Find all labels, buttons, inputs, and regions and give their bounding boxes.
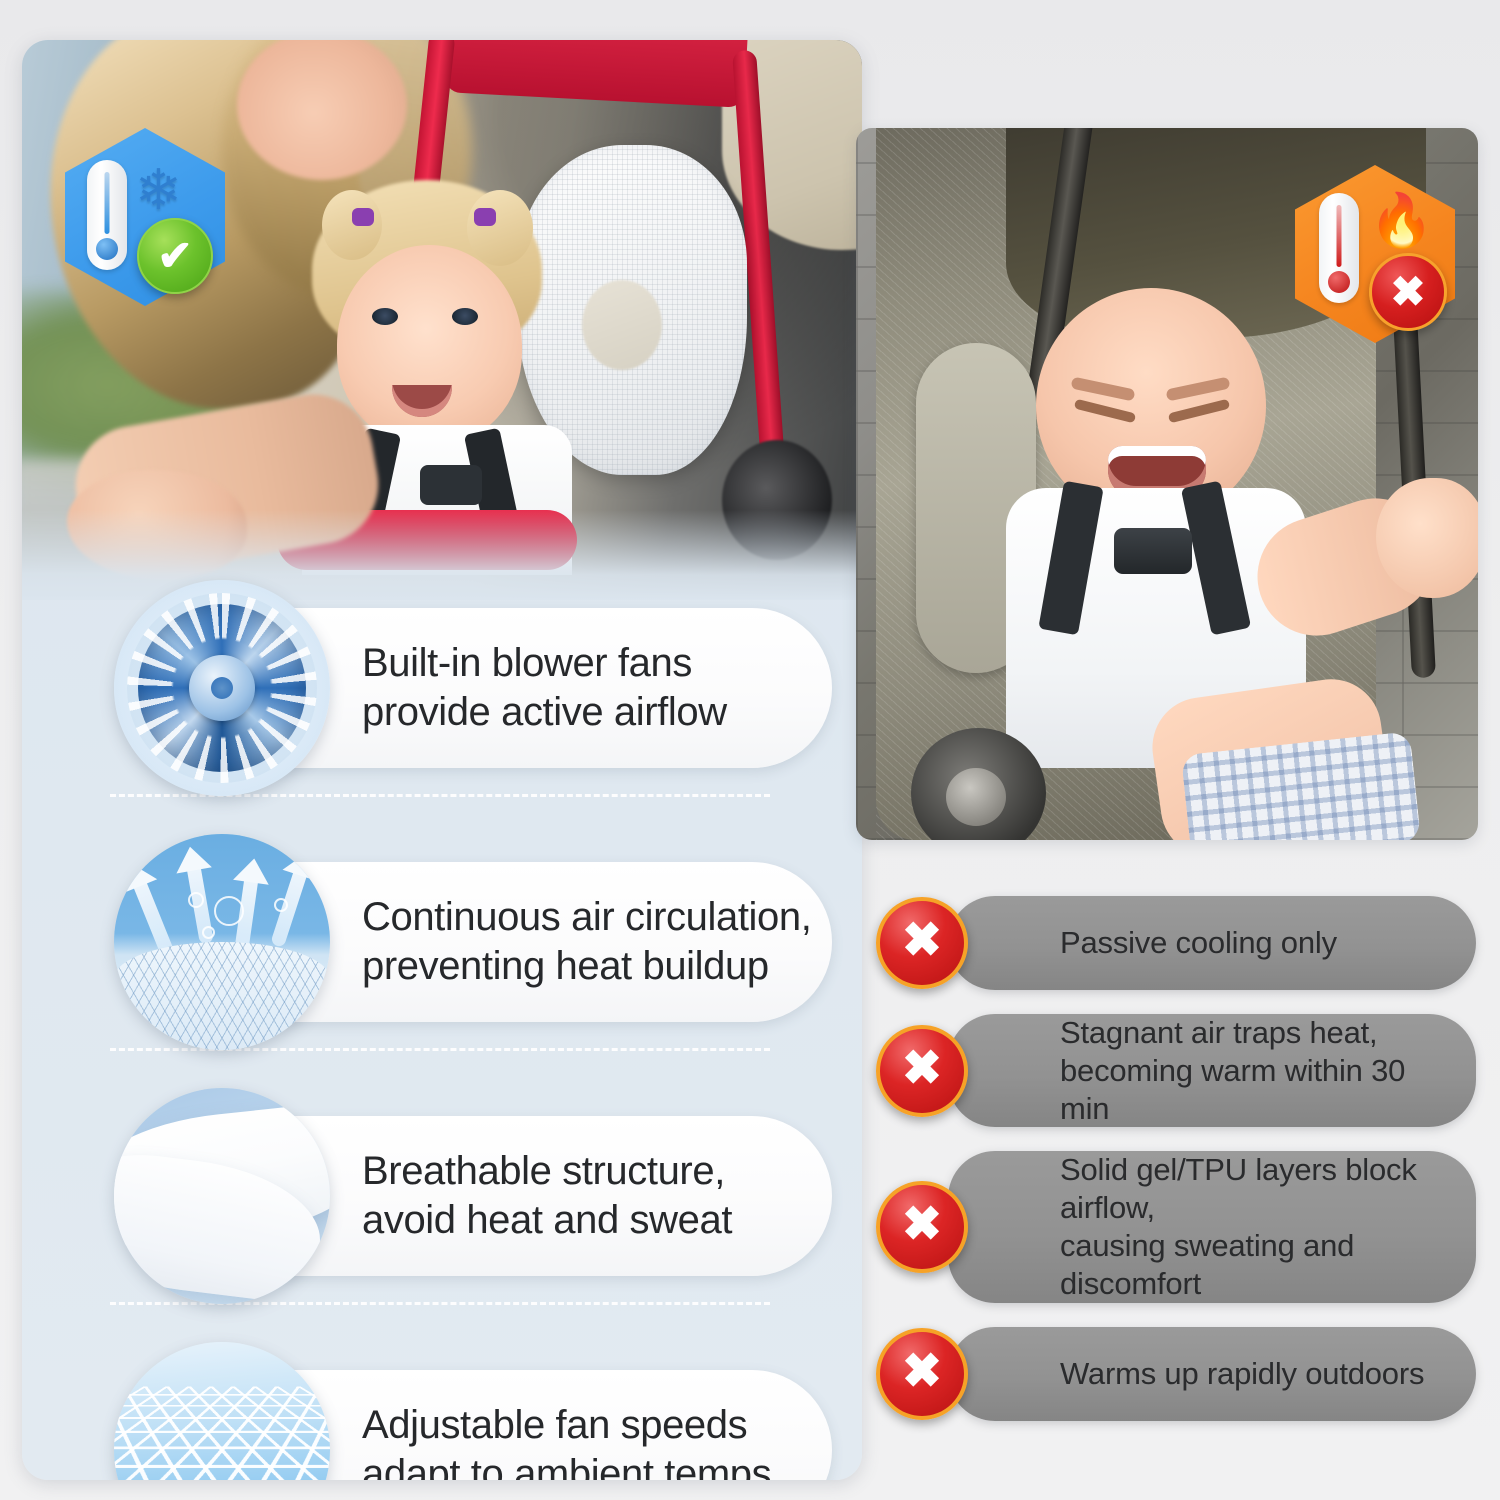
con-line-2: causing sweating and discomfort: [1060, 1228, 1354, 1301]
x-circle-icon: ✖: [876, 897, 968, 989]
stroller-wheel-hub: [946, 768, 1006, 826]
con-pill: Solid gel/TPU layers block airflow, caus…: [948, 1151, 1476, 1302]
con-row: Stagnant air traps heat, becoming warm w…: [876, 1014, 1476, 1127]
feature-line-2: preventing heat buildup: [362, 944, 769, 988]
baby-pigtail-left: [322, 190, 382, 260]
feature-list: Built-in blower fans provide active airf…: [22, 560, 862, 1480]
con-text: Solid gel/TPU layers block airflow, caus…: [1060, 1151, 1442, 1302]
feature-row: Continuous air circulation, preventing h…: [22, 814, 862, 1068]
thermometer-cold-icon: [87, 160, 127, 270]
harness-buckle: [1114, 528, 1192, 574]
thermometer-hot-icon: [1319, 193, 1359, 303]
con-pill: Warms up rapidly outdoors: [948, 1327, 1476, 1421]
hair-tie-left: [352, 208, 374, 226]
x-circle-icon: ✖: [876, 1025, 968, 1117]
baby-pigtail-right: [467, 190, 533, 266]
hot-badge-contents: 🔥 ✖: [1295, 165, 1455, 343]
feature-row: Built-in blower fans provide active airf…: [22, 560, 862, 814]
feature-line-2: adapt to ambient temps: [362, 1452, 771, 1480]
con-row: Solid gel/TPU layers block airflow, caus…: [876, 1151, 1476, 1302]
check-glyph: ✔: [157, 235, 192, 277]
feature-line-1: Continuous air circulation,: [362, 895, 811, 939]
snowflake-icon: ❄: [135, 162, 182, 218]
feature-text: Breathable structure, avoid heat and swe…: [362, 1147, 732, 1245]
feature-line-1: Built-in blower fans: [362, 641, 692, 685]
hair-tie-right: [474, 208, 496, 226]
x-glyph: ✖: [902, 1348, 942, 1396]
infographic-canvas: Built-in blower fans provide active airf…: [0, 0, 1500, 1500]
con-line-1: Passive cooling only: [1060, 925, 1337, 960]
cons-list: Passive cooling only ✖ Stagnant air trap…: [876, 896, 1476, 1445]
con-line-1: Warms up rapidly outdoors: [1060, 1356, 1424, 1391]
air-circulation-icon: [114, 834, 330, 1050]
con-row: Passive cooling only ✖: [876, 896, 1476, 990]
con-row: Warms up rapidly outdoors ✖: [876, 1327, 1476, 1421]
feature-line-2: avoid heat and sweat: [362, 1198, 732, 1242]
harness-buckle: [420, 465, 482, 505]
x-glyph: ✖: [902, 1045, 942, 1093]
left-lifestyle-photo: [22, 40, 862, 600]
baby-eye-left: [372, 308, 398, 325]
baby-eye-right: [452, 308, 478, 325]
x-glyph: ✖: [902, 1201, 942, 1249]
con-pill: Passive cooling only: [948, 896, 1476, 990]
cool-badge-contents: ❄ ✔: [65, 128, 225, 306]
con-line-1: Stagnant air traps heat,: [1060, 1015, 1377, 1050]
breathable-fabric-icon: [114, 1088, 330, 1304]
feature-line-1: Adjustable fan speeds: [362, 1403, 747, 1447]
feature-line-1: Breathable structure,: [362, 1149, 725, 1193]
con-line-1: Solid gel/TPU layers block airflow,: [1060, 1152, 1417, 1225]
flame-icon: 🔥: [1369, 195, 1434, 247]
feature-text: Built-in blower fans provide active airf…: [362, 639, 727, 737]
x-circle-icon: ✖: [876, 1328, 968, 1420]
blower-fan-icon: [114, 580, 330, 796]
x-glyph: ✖: [1390, 271, 1425, 313]
con-text: Stagnant air traps heat, becoming warm w…: [1060, 1014, 1442, 1127]
honeycomb-gel-icon: [114, 1342, 330, 1480]
con-text: Warms up rapidly outdoors: [1060, 1355, 1424, 1393]
x-circle-icon: ✖: [876, 1181, 968, 1273]
check-circle-icon: ✔: [137, 218, 213, 294]
feature-text: Continuous air circulation, preventing h…: [362, 893, 811, 991]
con-line-2: becoming warm within 30 min: [1060, 1053, 1405, 1126]
con-pill: Stagnant air traps heat, becoming warm w…: [948, 1014, 1476, 1127]
con-text: Passive cooling only: [1060, 924, 1337, 962]
feature-text: Adjustable fan speeds adapt to ambient t…: [362, 1401, 771, 1480]
feature-row: Adjustable fan speeds adapt to ambient t…: [22, 1322, 862, 1480]
x-glyph: ✖: [902, 917, 942, 965]
cushion-notch: [582, 280, 662, 370]
feature-row: Breathable structure, avoid heat and swe…: [22, 1068, 862, 1322]
stroller-red-bar-top: [444, 40, 749, 108]
x-circle-icon: ✖: [1369, 253, 1447, 331]
feature-line-2: provide active airflow: [362, 690, 727, 734]
